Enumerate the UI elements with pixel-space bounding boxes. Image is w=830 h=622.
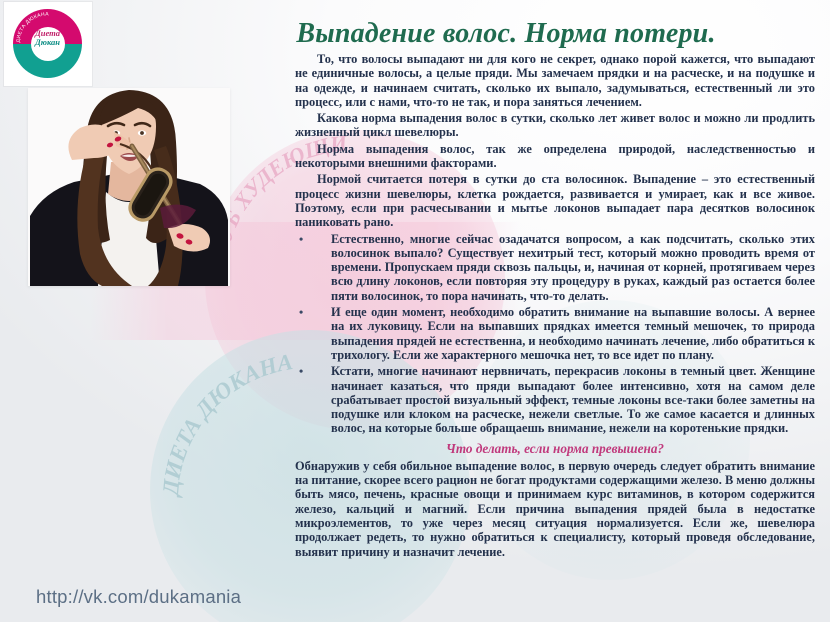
slide-canvas: КЛУБ ХУДЕЮЩИХ ДИЕТА ДЮКАНА ДИЕТА ДЮКАНА …	[0, 0, 830, 622]
list-item-text: И еще один момент, необходимо обратить в…	[331, 305, 815, 362]
woman-with-hairbrush-photo	[28, 88, 230, 286]
footer-url[interactable]: http://vk.com/dukamania	[36, 586, 241, 608]
hero-photo	[28, 88, 230, 286]
paragraph: Нормой считается потеря в сутки до ста в…	[295, 172, 815, 229]
paragraph: То, что волосы выпадают ни для кого не с…	[295, 52, 815, 109]
logo-center-text: Диета Дюкан	[13, 29, 82, 47]
teal-ring-label: ДИЕТА ДЮКАНА	[158, 349, 295, 498]
logo-line-2: Дюкан	[13, 38, 82, 47]
list-item-text: Естественно, многие сейчас озадачатся во…	[331, 232, 815, 303]
brand-logo: ДИЕТА ДЮКАНА Диета Дюкан	[4, 2, 92, 86]
list-item: • Кстати, многие начинают нервничать, пе…	[295, 364, 815, 435]
closing-paragraph: Обнаружив у себя обильное выпадение воло…	[295, 459, 815, 559]
bullet-list: • Естественно, многие сейчас озадачатся …	[295, 232, 815, 436]
list-item-text: Кстати, многие начинают нервничать, пере…	[331, 364, 815, 435]
bullet-glyph-icon: •	[299, 364, 303, 378]
bullet-glyph-icon: •	[299, 305, 303, 319]
section-subheading: Что делать, если норма превышена?	[295, 441, 815, 457]
paragraph: Какова норма выпадения волос в сутки, ск…	[295, 111, 815, 140]
article-body: То, что волосы выпадают ни для кого не с…	[295, 52, 815, 561]
list-item: • И еще один момент, необходимо обратить…	[295, 305, 815, 362]
list-item: • Естественно, многие сейчас озадачатся …	[295, 232, 815, 303]
logo-ring-icon: ДИЕТА ДЮКАНА Диета Дюкан	[13, 9, 82, 78]
svg-text:ДИЕТА ДЮКАНА: ДИЕТА ДЮКАНА	[158, 349, 295, 498]
paragraph: Норма выпадения волос, так же определена…	[295, 142, 815, 171]
bullet-glyph-icon: •	[299, 232, 303, 246]
page-title: Выпадение волос. Норма потери.	[196, 18, 816, 50]
